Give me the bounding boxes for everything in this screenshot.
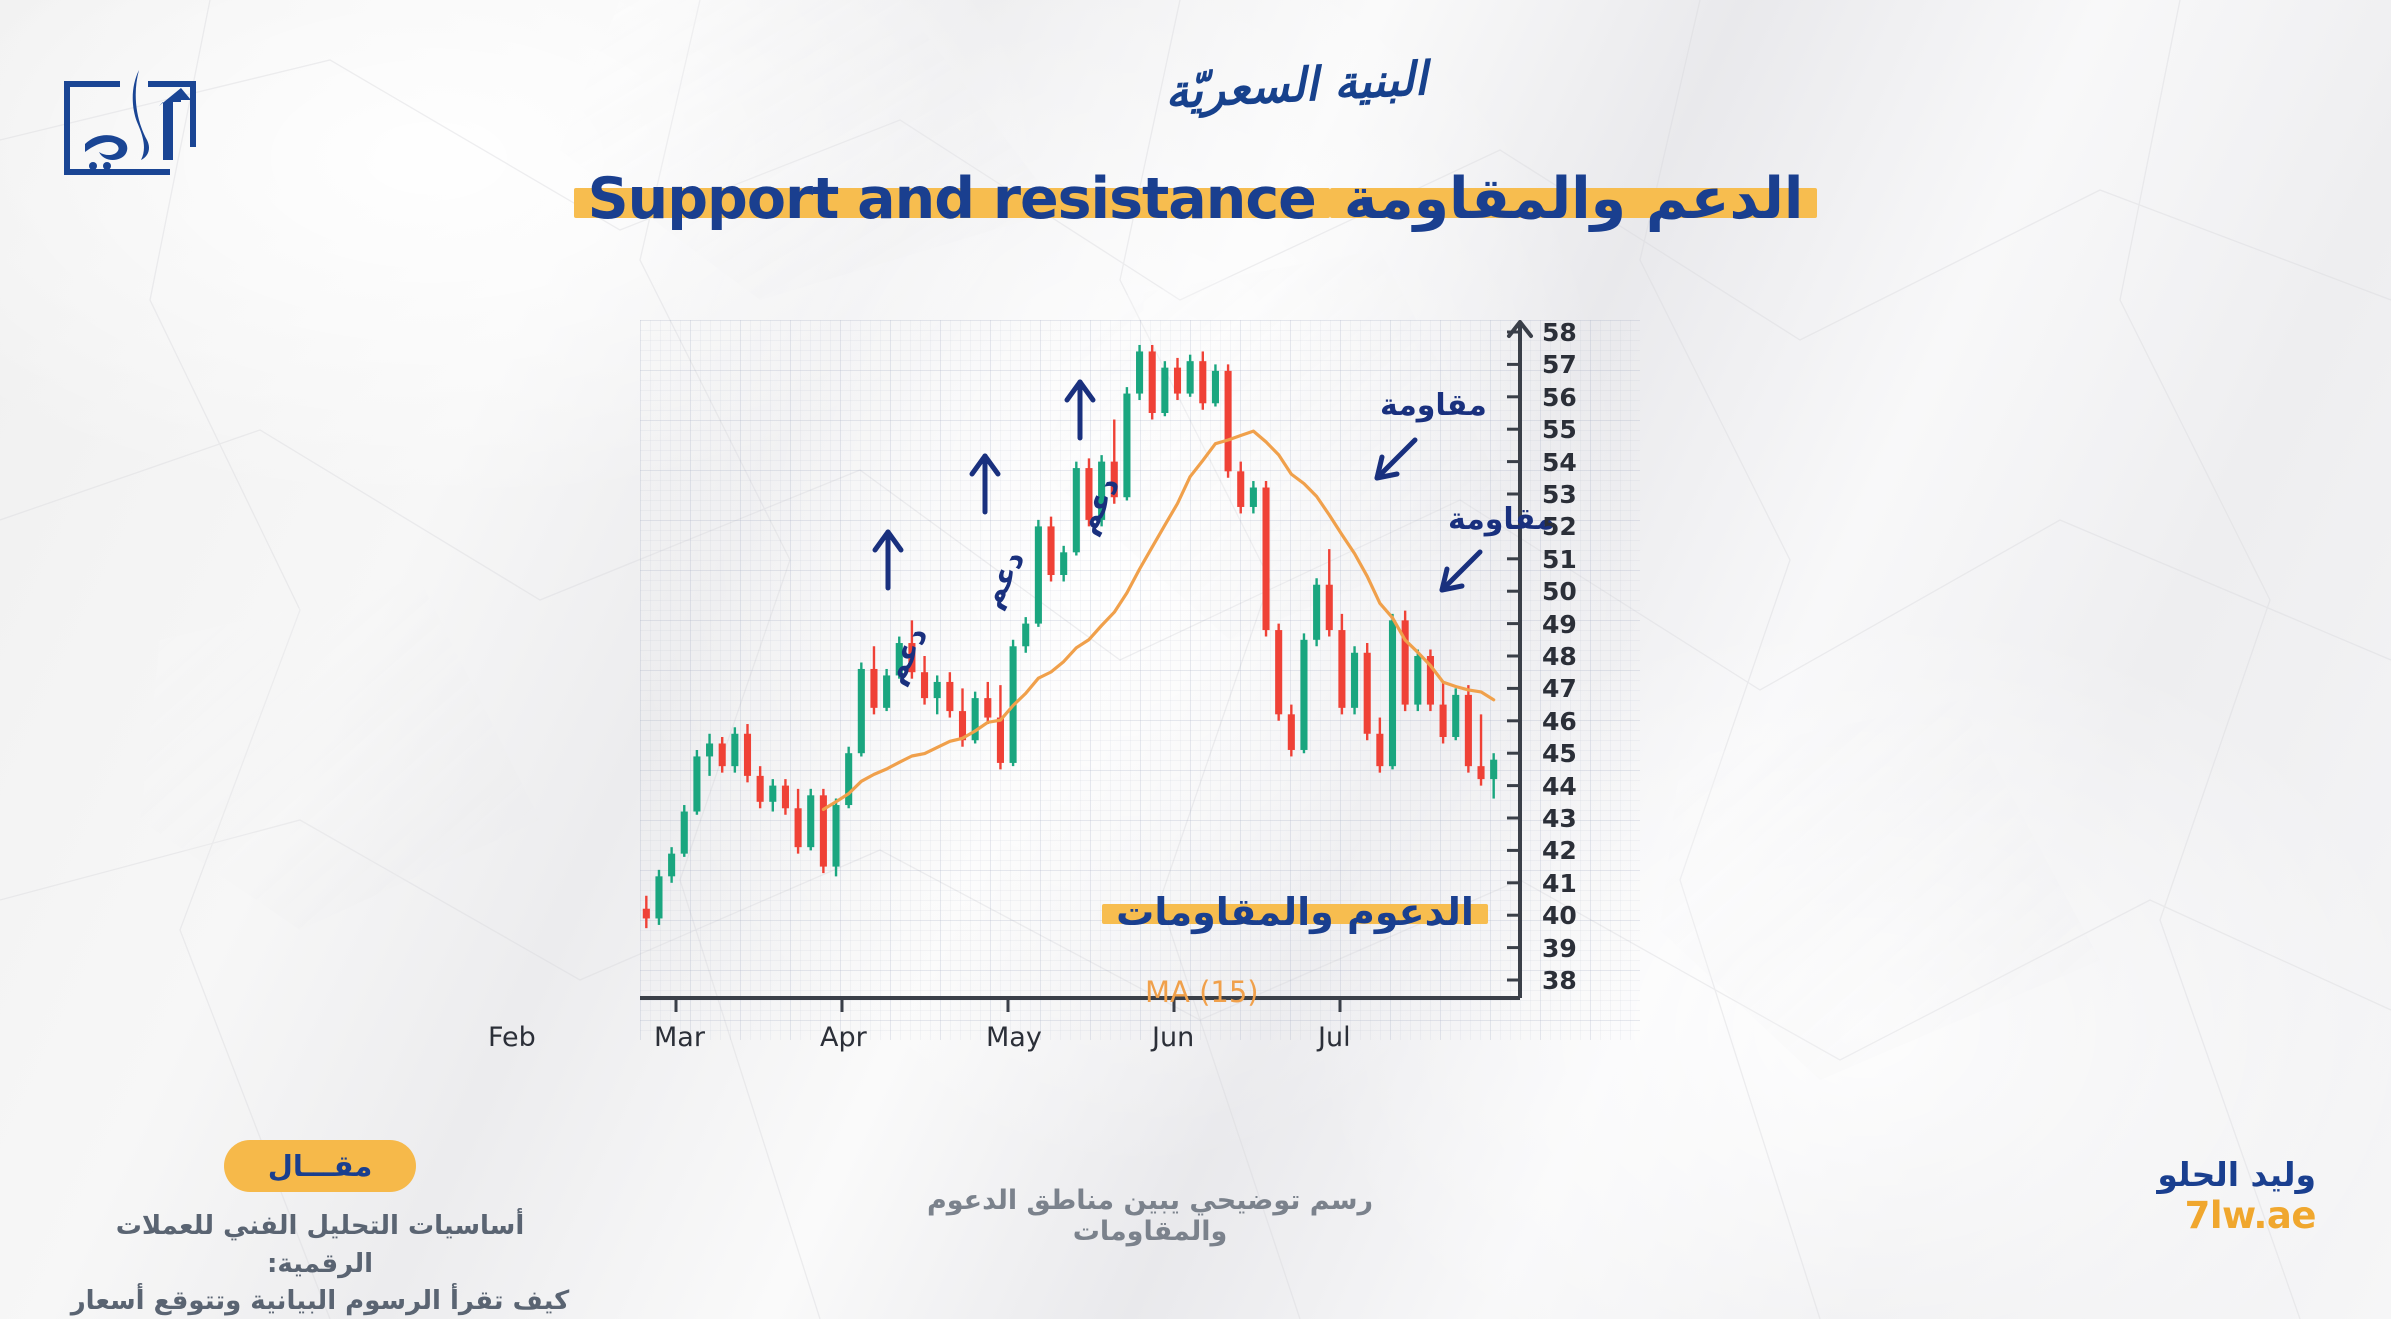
y-axis-tick-label: 47: [1542, 674, 1577, 703]
center-title-text: الدعوم والمقاومات: [1116, 890, 1474, 934]
y-axis-tick-label: 52: [1542, 512, 1577, 541]
subtitle-script: البنية السعريّة: [1163, 51, 1427, 119]
article-desc-line1: أساسيات التحليل الفني للعملات الرقمية:: [60, 1208, 580, 1283]
brand-website[interactable]: 7lw.ae: [2157, 1194, 2316, 1237]
title-arabic-wrap: الدعم والمقاومة: [1330, 166, 1818, 232]
y-axis-tick-label: 44: [1542, 772, 1577, 801]
ma-legend-label: MA (15): [1145, 975, 1259, 1009]
y-axis-tick-label: 39: [1542, 934, 1577, 963]
title-english: Support and resistance: [588, 166, 1316, 232]
y-axis-tick-label: 56: [1542, 383, 1577, 412]
y-axis-tick-label: 40: [1542, 901, 1577, 930]
y-axis-tick-label: 53: [1542, 480, 1577, 509]
chart-center-title: الدعوم والمقاومات: [1080, 890, 1510, 934]
article-description: أساسيات التحليل الفني للعملات الرقمية: ك…: [60, 1208, 580, 1319]
candlestick-chart: دعم دعم دعم مقاومة مقاومة MA (15) 585756…: [640, 320, 1700, 1060]
brand-name: وليد الحلو: [2157, 1155, 2316, 1194]
x-axis-tick-label: Feb: [488, 1022, 536, 1053]
y-axis-tick-label: 50: [1542, 577, 1577, 606]
x-axis-tick-label: Apr: [820, 1022, 867, 1053]
annotation-resistance-2: مقاومة: [1448, 502, 1555, 537]
y-axis-tick-label: 48: [1542, 642, 1577, 671]
chart-plot: [640, 320, 1700, 1060]
main-title: الدعم والمقاومة Support and resistance: [0, 166, 2391, 232]
article-desc-line2: كيف تقرأ الرسوم البيانية وتتوقع أسعار ال…: [60, 1283, 580, 1319]
figure-caption: رسم توضيحي يبين مناطق الدعوم والمقاومات: [880, 1185, 1420, 1247]
y-axis-tick-label: 45: [1542, 739, 1577, 768]
footer-brand: وليد الحلو 7lw.ae: [2157, 1155, 2316, 1237]
y-axis-tick-label: 43: [1542, 804, 1577, 833]
title-arabic: الدعم والمقاومة: [1344, 166, 1804, 232]
y-axis-tick-label: 42: [1542, 836, 1577, 865]
header-title-block: البنية السعريّة: [0, 58, 2391, 112]
y-axis-tick-label: 55: [1542, 415, 1577, 444]
y-axis-tick-label: 49: [1542, 610, 1577, 639]
article-badge[interactable]: مقـــال: [224, 1140, 417, 1192]
y-axis-tick-label: 57: [1542, 350, 1577, 379]
y-axis-tick-label: 46: [1542, 707, 1577, 736]
y-axis-tick-label: 38: [1542, 966, 1577, 995]
x-axis-tick-label: May: [986, 1022, 1042, 1053]
x-axis-tick-label: Jul: [1318, 1022, 1351, 1053]
x-axis-tick-label: Jun: [1152, 1022, 1194, 1053]
y-axis-tick-label: 51: [1542, 545, 1577, 574]
y-axis-tick-label: 58: [1542, 318, 1577, 347]
footer-article: مقـــال أساسيات التحليل الفني للعملات ال…: [60, 1140, 580, 1319]
y-axis-tick-label: 54: [1542, 448, 1577, 477]
y-axis-tick-label: 41: [1542, 869, 1577, 898]
annotation-resistance-1: مقاومة: [1380, 388, 1487, 423]
x-axis-tick-label: Mar: [654, 1022, 705, 1053]
title-english-wrap: Support and resistance: [574, 166, 1330, 232]
